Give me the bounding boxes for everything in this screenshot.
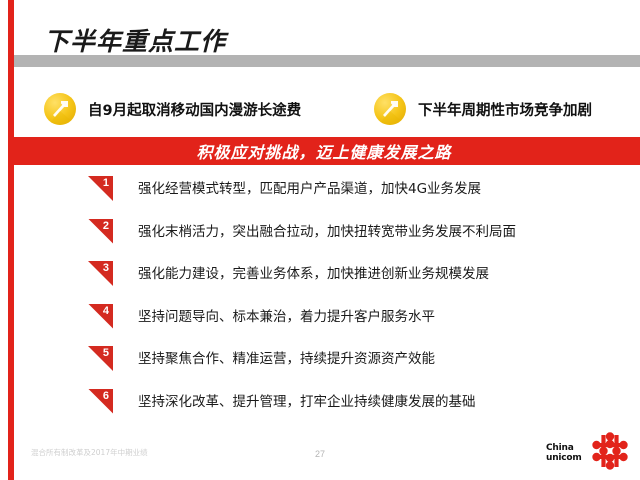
- red-banner-text: 积极应对挑战，迈上健康发展之路: [196, 139, 451, 163]
- list-item-text: 坚持聚焦合作、精准运营，持续提升资源资产效能: [138, 346, 435, 370]
- list-item: 5 坚持聚焦合作、精准运营，持续提升资源资产效能: [14, 346, 640, 389]
- number-flag-marker: 5: [88, 346, 113, 371]
- number-flag-marker: 2: [88, 219, 113, 244]
- list-item-number: 3: [103, 262, 109, 275]
- number-flag-marker: 4: [88, 304, 113, 329]
- list-item: 1 强化经营模式转型，匹配用户产品渠道，加快4G业务发展: [14, 176, 640, 219]
- number-flag-marker: 3: [88, 261, 113, 286]
- list-item-text: 强化能力建设，完善业务体系，加快推进创新业务规模发展: [138, 261, 489, 285]
- list-item: 4 坚持问题导向、标本兼治，着力提升客户服务水平: [14, 304, 640, 347]
- list-item: 2 强化末梢活力，突出融合拉动，加快扭转宽带业务发展不利局面: [14, 219, 640, 262]
- logo-wordmark: China unicom: [546, 444, 582, 463]
- flag-shape: [88, 389, 113, 414]
- china-unicom-logo: China unicom: [546, 432, 632, 472]
- list-item-text: 强化末梢活力，突出融合拉动，加快扭转宽带业务发展不利局面: [138, 219, 516, 243]
- top-bullets-row: 自9月起取消移动国内漫游长途费 下半年周期性市场竞争加剧: [14, 86, 640, 132]
- list-item: 3 强化能力建设，完善业务体系，加快推进创新业务规模发展: [14, 261, 640, 304]
- flag-shape: [88, 219, 113, 244]
- list-item-number: 4: [103, 305, 109, 318]
- page-title: 下半年重点工作: [44, 22, 226, 58]
- list-item-number: 1: [103, 177, 109, 190]
- top-bullet-2: 下半年周期性市场竞争加剧: [374, 93, 592, 125]
- flag-shape: [88, 346, 113, 371]
- numbered-list: 1 强化经营模式转型，匹配用户产品渠道，加快4G业务发展 2 强化末梢活力，突出…: [14, 176, 640, 431]
- list-item-text: 坚持问题导向、标本兼治，着力提升客户服务水平: [138, 304, 435, 328]
- top-bullet-1-label: 自9月起取消移动国内漫游长途费: [88, 99, 301, 120]
- list-item-text: 强化经营模式转型，匹配用户产品渠道，加快4G业务发展: [138, 176, 481, 200]
- list-item-text: 坚持深化改革、提升管理，打牢企业持续健康发展的基础: [138, 389, 476, 413]
- hammer-icon: [374, 93, 406, 125]
- flag-shape: [88, 304, 113, 329]
- hammer-icon: [44, 93, 76, 125]
- slide-canvas: 下半年重点工作 自9月起取消移动国内漫游长途费 下半年周期性市: [0, 0, 640, 480]
- page-number: 27: [0, 449, 640, 459]
- list-item-number: 6: [103, 390, 109, 403]
- list-item-number: 5: [103, 347, 109, 360]
- title-zone: 下半年重点工作: [14, 22, 640, 72]
- flag-shape: [88, 261, 113, 286]
- number-flag-marker: 1: [88, 176, 113, 201]
- top-bullet-2-label: 下半年周期性市场竞争加剧: [418, 99, 592, 120]
- flag-shape: [88, 176, 113, 201]
- red-banner: 积极应对挑战，迈上健康发展之路: [8, 137, 640, 165]
- list-item: 6 坚持深化改革、提升管理，打牢企业持续健康发展的基础: [14, 389, 640, 432]
- logo-line-2: unicom: [546, 454, 582, 464]
- list-item-number: 2: [103, 220, 109, 233]
- unicom-knot-icon: [590, 432, 630, 470]
- top-bullet-1: 自9月起取消移动国内漫游长途费: [44, 93, 364, 125]
- number-flag-marker: 6: [88, 389, 113, 414]
